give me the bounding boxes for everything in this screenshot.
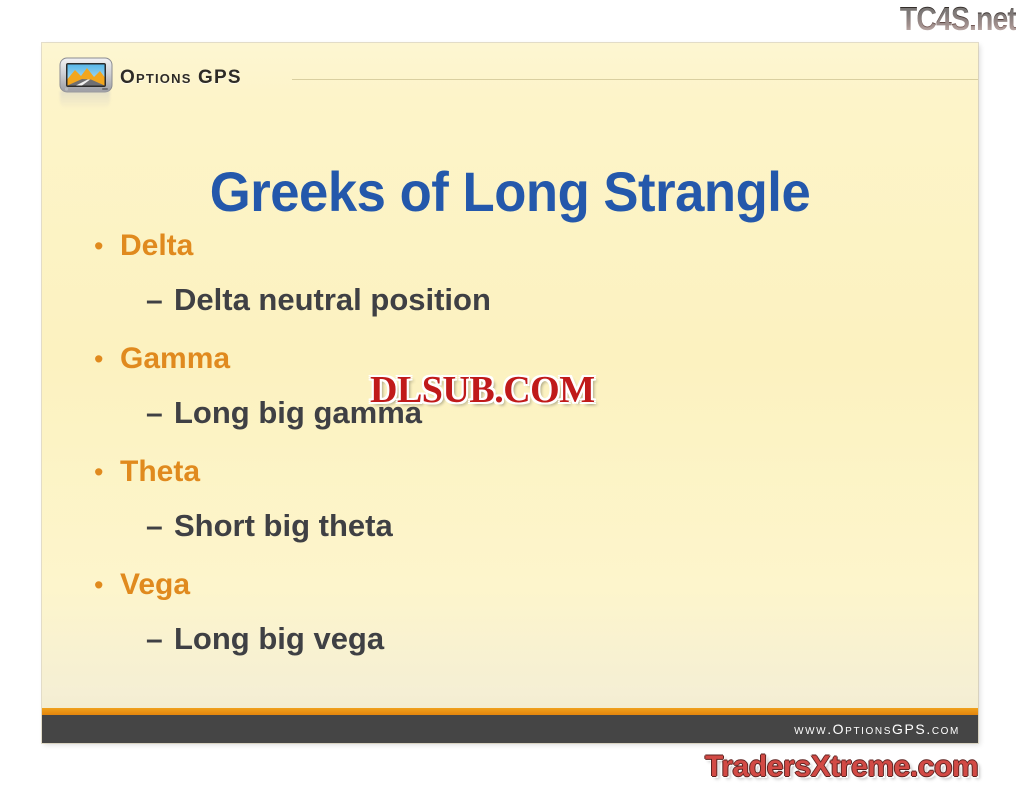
site-brand-tc4s: TC4S.net xyxy=(900,2,1016,35)
sub-bullet-label: Delta neutral position xyxy=(174,282,491,318)
sub-list-item: – Long big vega xyxy=(146,621,954,673)
brand-wordmark: Options GPS xyxy=(120,67,242,89)
page-title: Greeks of Long Strangle xyxy=(70,159,950,224)
site-brand-tradersxtreme: TradersXtreme.com xyxy=(705,750,978,784)
bullet-dot-icon: • xyxy=(94,572,120,599)
bullet-label: Theta xyxy=(120,455,200,489)
dash-marker-icon: – xyxy=(146,625,174,655)
footer-url: www.OptionsGPS.com xyxy=(794,721,960,737)
footer-accent-bar xyxy=(42,708,978,715)
bullet-label: Vega xyxy=(120,568,190,602)
list-item: • Delta xyxy=(94,229,954,277)
header-divider xyxy=(292,79,978,80)
bullet-dot-icon: • xyxy=(94,346,120,373)
sub-list-item: – Short big theta xyxy=(146,508,954,560)
bullet-dot-icon: • xyxy=(94,459,120,486)
bullet-label: Gamma xyxy=(120,342,230,376)
dash-marker-icon: – xyxy=(146,512,174,542)
watermark-dlsub: DLSUB.COM xyxy=(370,368,595,412)
list-item: • Vega xyxy=(94,568,954,616)
bullet-dot-icon: • xyxy=(94,233,120,260)
sub-list-item: – Delta neutral position xyxy=(146,282,954,334)
bullet-list: • Delta – Delta neutral position • Gamma… xyxy=(94,229,954,681)
slide-header: Options GPS xyxy=(42,43,978,101)
slide-footer: www.OptionsGPS.com xyxy=(42,715,978,743)
sub-bullet-label: Long big vega xyxy=(174,621,384,657)
dash-marker-icon: – xyxy=(146,399,174,429)
dash-marker-icon: – xyxy=(146,286,174,316)
logo-reflection xyxy=(60,91,110,109)
list-item: • Theta xyxy=(94,455,954,503)
bullet-label: Delta xyxy=(120,229,193,263)
sub-bullet-label: Short big theta xyxy=(174,508,393,544)
